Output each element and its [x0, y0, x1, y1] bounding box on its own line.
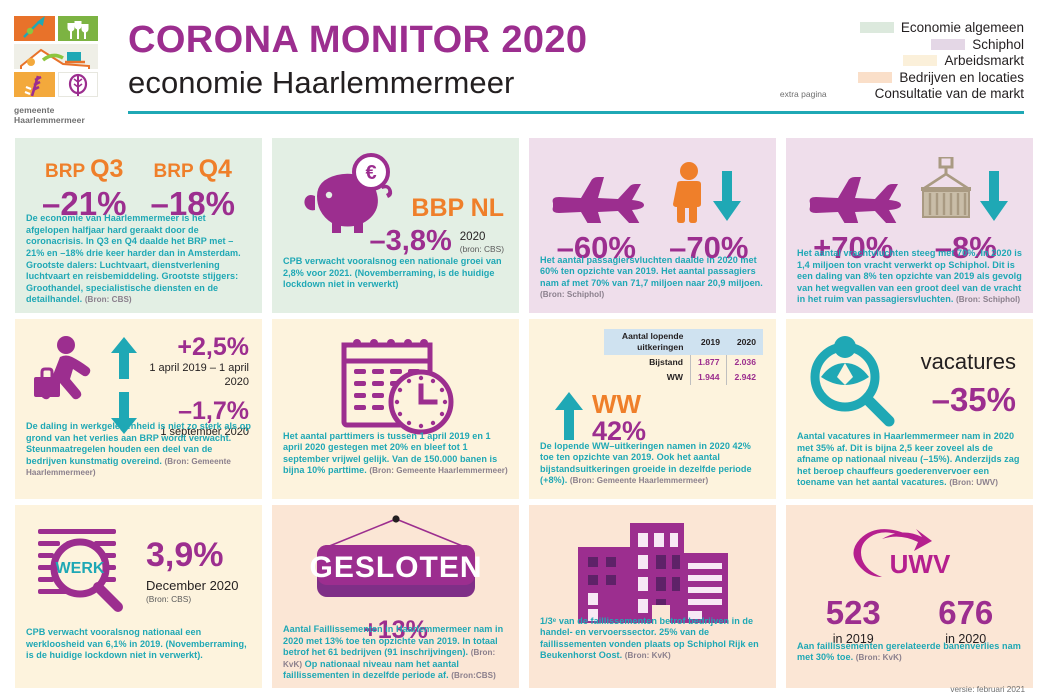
svg-text:€: € [365, 162, 376, 184]
bbp-visual: € BBP NL –3,8% 2020 (bron: CBS) [283, 146, 508, 256]
werk-magnifier-text: WERK [56, 560, 105, 577]
werkloosheid-source: (Bron: CBS) [146, 594, 249, 605]
ww-2020: 2.942 [727, 370, 763, 385]
bbp-value-row: –3,8% 2020 (bron: CBS) [370, 225, 504, 257]
wheat-glyph-icon [14, 72, 55, 97]
parttime-description: Het aantal parttimers is tussen 1 april … [283, 431, 508, 477]
gesloten-sign-text: GESLOTEN [309, 551, 482, 584]
sectoren-source: (Bron: KvK) [625, 651, 671, 660]
faillissementen-description: Aantal Faillissementen in Haarlemmermeer… [283, 624, 508, 682]
legend-label-bedrijven-en-locaties: Bedrijven en locaties [899, 70, 1024, 85]
uwv-visual: UWV [797, 513, 1022, 592]
airplane-icon [547, 165, 651, 228]
bbp-source: (bron: CBS) [460, 244, 504, 255]
bbp-meta: 2020 (bron: CBS) [460, 225, 504, 255]
brp-q4-label: BRP Q4 [143, 158, 243, 183]
table-body: Bijstand 1.877 2.036 WW 1.944 2.942 [604, 355, 763, 385]
vracht-description: Het aantal vrachtvluchten steeg met 70%.… [797, 248, 1022, 306]
legend: Economie algemeen Schiphol Arbeidsmarkt … [767, 20, 1024, 102]
office-buildings-icon [564, 519, 742, 628]
werkloosheid-value: 3,9% [146, 536, 249, 574]
passagiers-source: (Bron: Schiphol) [540, 290, 604, 299]
airplane-icon [804, 165, 908, 228]
banenverlies-2019-value: 523 [802, 594, 906, 631]
card-faillissementen: GESLOTEN +13% Aantal Faillissementen in … [272, 505, 519, 688]
airplane-col-2 [805, 165, 907, 228]
brp-source: (Bron: CBS) [85, 295, 132, 304]
person-magnifier-icon [803, 333, 899, 434]
parttime-source: (Bron: Gemeente Haarlemmermeer) [369, 466, 507, 475]
legend-swatch-consultatie [834, 88, 868, 99]
legend-item-schiphol: Schiphol [864, 37, 1024, 53]
uwv-logo-icon: UWV [846, 525, 974, 592]
logo-tile-polder-landscape-icon [14, 44, 98, 69]
legend-label-schiphol: Schiphol [972, 37, 1024, 52]
table-header-label: Aantal lopende uitkeringen [604, 329, 690, 355]
brp-text: De economie van Haarlemmermeer is het af… [26, 213, 241, 304]
brp-q3-quarter: Q3 [90, 155, 123, 183]
brp-q3-prefix: BRP [45, 161, 85, 182]
card-brp: BRP Q3 –21% BRP Q4 –18% De economie van … [15, 138, 262, 313]
vacatures-description: Aantal vacatures in Haarlemmermeer nam i… [797, 431, 1022, 489]
legend-swatch-bedrijven-en-locaties [858, 72, 892, 83]
bbp-description: CPB verwacht vooralsnog een nationale gr… [283, 256, 508, 291]
logo-tile-tulips-icon [58, 16, 99, 41]
banenverlies-source: (Bron: KvK) [856, 653, 902, 662]
legend-item-consultatie-van-de-markt: extra pagina Consultatie van de markt [767, 86, 1024, 102]
tree-glyph-icon [59, 73, 98, 96]
passenger-col [655, 161, 757, 228]
header-divider [128, 111, 1024, 114]
werk-magnifier-icon: WERK [32, 521, 136, 620]
bbp-text: CPB verwacht vooralsnog een nationale gr… [283, 256, 502, 289]
table-header-row: Aantal lopende uitkeringen 2019 2020 [604, 329, 763, 355]
municipality-logo: gemeenteHaarlemmermeer [14, 16, 106, 125]
bijstand-2020: 2.036 [727, 355, 763, 370]
person-icon [670, 161, 708, 228]
table-header-2020: 2020 [727, 329, 763, 355]
arrow-down-icon [712, 171, 742, 228]
legend-item-economie-algemeen: Economie algemeen [793, 20, 1024, 36]
title-block: CORONA MONITOR 2020 economie Haarlemmerm… [128, 18, 587, 102]
logo-tile-tree-icon [58, 72, 99, 97]
header: gemeenteHaarlemmermeer CORONA MONITOR 20… [0, 0, 1050, 120]
logo-caption: gemeenteHaarlemmermeer [14, 105, 106, 125]
banenverlies-description: Aan faillissementen gerelateerde banenve… [797, 641, 1022, 664]
logo-tile-grid [14, 16, 98, 100]
table-row: WW 1.944 2.942 [604, 370, 763, 385]
vacatures-visual: vacatures –35% [797, 327, 1022, 434]
legend-swatch-arbeidsmarkt [903, 55, 937, 66]
card-bbp-nl: € BBP NL –3,8% 2020 (bron: CBS) [272, 138, 519, 313]
sectoren-description: 1/3ᵉ van de faillissementen betrof bedri… [540, 616, 765, 662]
werkloosheid-period: December 2020 [146, 578, 249, 594]
faillissementen-source-2: (Bron:CBS) [451, 671, 496, 680]
bijstand-2019: 1.877 [690, 355, 727, 370]
card-passagiers: –60% –70% Het aantal passagiersvluchten … [529, 138, 776, 313]
ww-label: WW [592, 391, 646, 417]
uitkeringen-table: Aantal lopende uitkeringen 2019 2020 Bij… [604, 329, 763, 385]
vracht-col [912, 157, 1014, 228]
card-vracht: +70% –8% Het aantal vrachtvluchten steeg… [786, 138, 1033, 313]
card-uitkeringen: Aantal lopende uitkeringen 2019 2020 Bij… [529, 319, 776, 499]
card-vacatures: vacatures –35% Aantal vacatures in Haarl… [786, 319, 1033, 499]
cargo-container-icon [917, 157, 975, 228]
table-head: Aantal lopende uitkeringen 2019 2020 [604, 329, 763, 355]
card-parttime: Het aantal parttimers is tussen 1 april … [272, 319, 519, 499]
airplane-col [548, 165, 650, 228]
card-banenverlies: UWV 523 in 2019 676 in 2020 Aan failliss… [786, 505, 1033, 688]
passagiers-icons [540, 146, 765, 228]
table-header-2019: 2019 [690, 329, 727, 355]
uitkeringen-source: (Bron: Gemeente Haarlemmermeer) [570, 476, 708, 485]
passagiers-description: Het aantal passagiersvluchten daalde in … [540, 255, 765, 301]
ww-2019: 1.944 [690, 370, 727, 385]
card-sectoren: 1/3ᵉ van de faillissementen betrof bedri… [529, 505, 776, 688]
page-subtitle: economie Haarlemmermeer [128, 64, 587, 102]
legend-label-economie-algemeen: Economie algemeen [901, 20, 1024, 35]
vacatures-label: vacatures [905, 349, 1016, 375]
brp-q4-quarter: Q4 [199, 155, 232, 183]
row-label-bijstand: Bijstand [604, 355, 690, 370]
vracht-icons [797, 146, 1022, 228]
ww-highlight: WW 42% [540, 385, 765, 445]
bbp-value: –3,8% [370, 225, 452, 257]
werkgelegenheid-period-1: 1 april 2019 – 1 april 2020 [146, 361, 249, 389]
tulip-glyph-icon [58, 16, 99, 41]
bbp-figures: BBP NL –3,8% 2020 (bron: CBS) [370, 194, 504, 257]
table-row: Bijstand 1.877 2.036 [604, 355, 763, 370]
page-title: CORONA MONITOR 2020 [128, 18, 587, 62]
werkloosheid-figures: 3,9% December 2020 (Bron: CBS) [146, 536, 249, 605]
polder-glyph-icon [14, 44, 98, 69]
brp-q3-label: BRP Q3 [34, 158, 134, 183]
legend-swatch-economie-algemeen [860, 22, 894, 33]
arrow-up-icon [110, 337, 138, 384]
vacatures-value: –35% [905, 381, 1016, 419]
faillissementen-text-2: Op nationaal niveau nam het aantal faill… [283, 659, 459, 681]
parttime-visual [283, 327, 508, 444]
card-werkloosheid: WERK 3,9% December 2020 (Bron: CBS) CPB … [15, 505, 262, 688]
uwv-wordmark: UWV [889, 549, 950, 579]
card-grid: BRP Q3 –21% BRP Q4 –18% De economie van … [15, 138, 1035, 688]
card-werkgelegenheid: +2,5% 1 april 2019 – 1 april 2020 –1,7% … [15, 319, 262, 499]
legend-extra-page-prefix: extra pagina [767, 89, 827, 99]
legend-label-arbeidsmarkt: Arbeidsmarkt [944, 53, 1024, 68]
ww-highlight-text: WW 42% [592, 391, 646, 445]
brp-description: De economie van Haarlemmermeer is het af… [26, 213, 251, 306]
airplane-glyph-icon [14, 16, 55, 41]
vracht-source: (Bron: Schiphol) [956, 295, 1020, 304]
banenverlies-2020: 676 in 2020 [914, 594, 1018, 647]
bbp-title: BBP NL [370, 194, 504, 222]
banenverlies-figures: 523 in 2019 676 in 2020 [797, 594, 1022, 647]
banenverlies-2020-value: 676 [914, 594, 1018, 631]
gesloten-visual: GESLOTEN [283, 513, 508, 621]
brp-values: BRP Q3 –21% BRP Q4 –18% [26, 146, 251, 223]
uitkeringen-description: De lopende WW–uitkeringen namen in 2020 … [540, 441, 765, 487]
vacatures-figures: vacatures –35% [905, 349, 1020, 419]
infographic-page: gemeenteHaarlemmermeer CORONA MONITOR 20… [0, 0, 1050, 699]
arrow-up-icon [554, 392, 584, 445]
gesloten-sign-icon: GESLOTEN [291, 515, 501, 620]
bbp-year: 2020 [460, 231, 504, 244]
logo-tile-wheat-icon [14, 72, 55, 97]
werkgelegenheid-description: De daling in werkgelegenheid is niet zo … [26, 421, 251, 479]
werkgelegenheid-value-1: +2,5% [146, 333, 249, 361]
werkloosheid-visual: WERK 3,9% December 2020 (Bron: CBS) [26, 513, 251, 620]
brp-q4-prefix: BRP [154, 161, 194, 182]
banenverlies-2019: 523 in 2019 [802, 594, 906, 647]
calendar-clock-icon [332, 333, 460, 444]
legend-label-consultatie-van-de-markt: Consultatie van de markt [875, 86, 1024, 101]
legend-swatch-schiphol [931, 39, 965, 50]
sectoren-visual [540, 513, 765, 628]
version-note: versie: februari 2021 [950, 685, 1025, 694]
vacatures-source: (Bron: UWV) [949, 478, 998, 487]
arrow-down-icon [979, 171, 1009, 228]
uitkeringen-table-wrap: Aantal lopende uitkeringen 2019 2020 Bij… [540, 327, 765, 385]
passagiers-text: Het aantal passagiersvluchten daalde in … [540, 255, 763, 288]
werkloosheid-text: CPB verwacht vooralsnog nationaal een we… [26, 627, 247, 660]
legend-item-arbeidsmarkt: Arbeidsmarkt [836, 53, 1024, 69]
werkloosheid-description: CPB verwacht vooralsnog nationaal een we… [26, 627, 251, 662]
banenverlies-text: Aan faillissementen gerelateerde banenve… [797, 641, 1021, 663]
row-label-ww: WW [604, 370, 690, 385]
legend-item-bedrijven-en-locaties: Bedrijven en locaties [791, 70, 1024, 86]
logo-tile-aviation-icon [14, 16, 55, 41]
